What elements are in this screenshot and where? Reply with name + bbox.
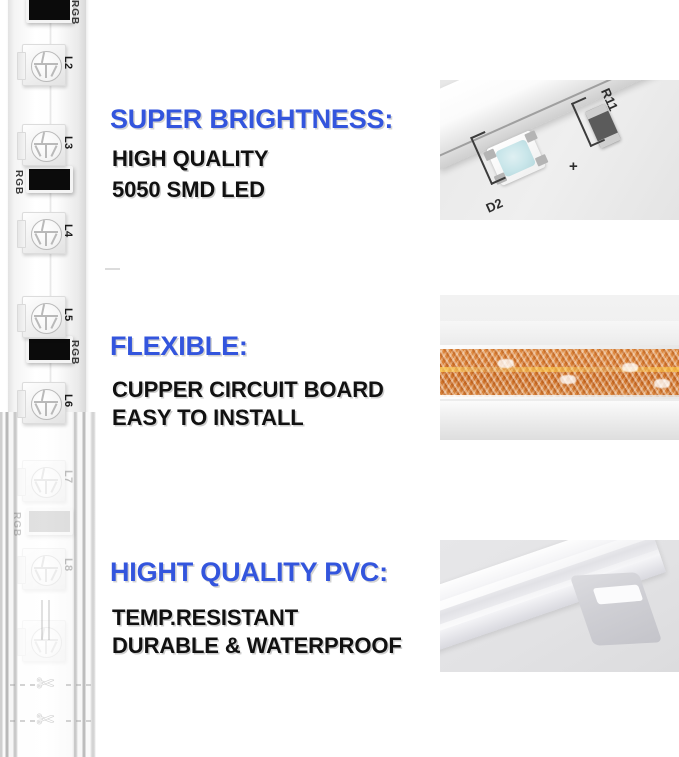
led-label-l2: L2 <box>62 56 74 69</box>
feature-heading-high-quality-pvc: HIGHT QUALITY PVC: <box>110 557 388 587</box>
silkscreen-label-plus: + <box>569 158 578 175</box>
feature-heading-super-brightness: SUPER BRIGHTNESS: <box>110 104 393 134</box>
pvc-tube-bottom <box>440 401 679 440</box>
led-label-l6: L6 <box>62 394 74 407</box>
led-dome-icon <box>31 219 62 250</box>
rgb-led-strip-diagram: RGB RGB RGB RGB L2 L3 L4 L5 L6 <box>0 0 104 757</box>
feature-body-line-2: DURABLE & WATERPROOF <box>112 632 402 659</box>
resistor-label-rgb: RGB <box>13 170 24 195</box>
led-dome-icon <box>31 303 62 334</box>
led-label-l7: L7 <box>62 470 74 483</box>
led-chip-l8 <box>22 548 66 590</box>
led-dome-icon <box>31 131 62 162</box>
wire-leads <box>38 600 54 640</box>
feature-body-line-2: 5050 SMD LED <box>112 176 265 203</box>
led-chip-l4 <box>22 212 66 254</box>
resistor-label-rgb: RGB <box>69 340 80 365</box>
led-chip-l3 <box>22 124 66 166</box>
led-label-l8: L8 <box>62 558 74 571</box>
led-chip-l2 <box>22 44 66 86</box>
tube-edge <box>440 395 679 399</box>
resistor-block-rgb <box>26 508 73 535</box>
resistor-label-rgb: RGB <box>11 512 22 537</box>
led-chip-l7 <box>22 460 66 502</box>
led-dome-icon <box>31 467 62 498</box>
pvc-sleeve-end-photo <box>440 540 679 672</box>
resistor-block-rgb <box>26 0 73 23</box>
feature-body-line-1: HIGH QUALITY <box>112 145 268 172</box>
feature-body-line-2: EASY TO INSTALL <box>112 404 304 431</box>
resistor-block-rgb <box>26 166 73 193</box>
led-label-l4: L4 <box>62 224 74 237</box>
separator-tick <box>105 268 120 270</box>
led-dome-icon <box>31 555 62 586</box>
feature-heading-flexible: FLEXIBLE: <box>110 331 248 361</box>
copper-circuit-board-photo <box>440 295 679 440</box>
scissors-icon: ✄ <box>36 671 54 697</box>
copper-conductor <box>440 349 679 397</box>
led-label-l3: L3 <box>62 136 74 149</box>
led-chip-l6 <box>22 382 66 424</box>
resistor-label-rgb: RGB <box>69 0 80 25</box>
feature-body-line-1: TEMP.RESISTANT <box>112 604 298 631</box>
resistor-block-rgb <box>26 336 73 363</box>
feature-body-line-1: CUPPER CIRCUIT BOARD <box>112 376 384 403</box>
cut-mark: ✄ <box>8 708 94 734</box>
led-chip-l5 <box>22 296 66 338</box>
scissors-icon: ✄ <box>36 707 54 733</box>
led-label-l5: L5 <box>62 308 74 321</box>
smd-led-closeup-photo: R11 D2 + <box>440 80 679 220</box>
led-dome-icon <box>31 51 62 82</box>
cut-mark: ✄ <box>8 672 94 698</box>
led-dome-icon <box>31 389 62 420</box>
